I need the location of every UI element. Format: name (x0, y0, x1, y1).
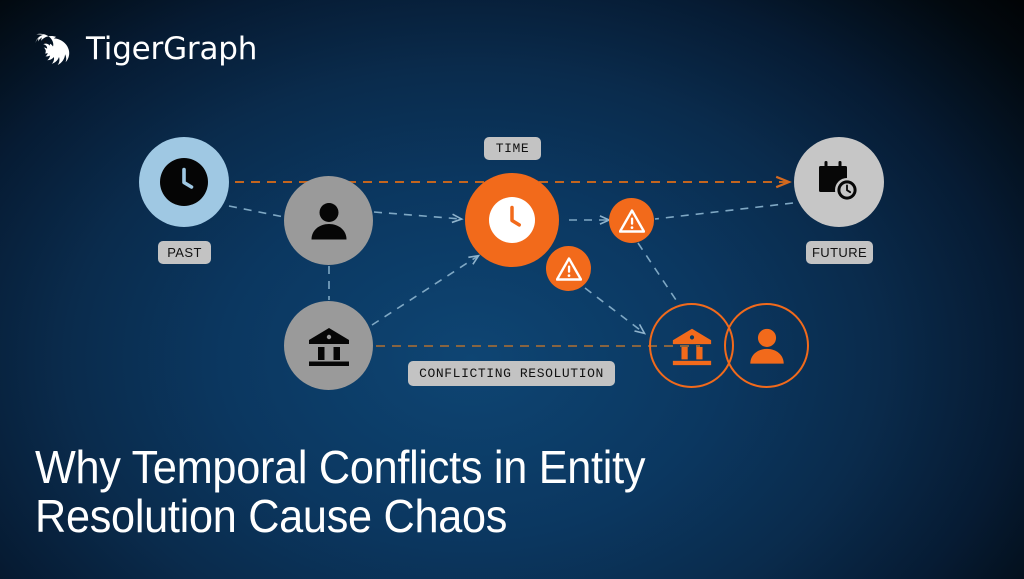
node-past[interactable] (139, 137, 229, 227)
page-title: Why Temporal Conflicts in Entity Resolut… (35, 443, 806, 541)
label-time: TIME (484, 137, 541, 160)
tiger-head-icon (30, 27, 74, 71)
bank-icon (670, 324, 714, 368)
page-title-line-2: Resolution Cause Chaos (35, 492, 806, 541)
edge-person-to-time (374, 212, 461, 219)
node-warning-conflict-b[interactable] (609, 198, 654, 243)
person-icon (746, 325, 788, 367)
brand-lockup: TigerGraph (30, 26, 257, 72)
clock-icon (160, 158, 208, 206)
label-future: FUTURE (806, 241, 873, 264)
warning-icon (619, 208, 645, 234)
person-icon (307, 199, 351, 243)
label-conflicting-resolution: CONFLICTING RESOLUTION (408, 361, 615, 386)
node-duplicate-bank[interactable] (649, 303, 734, 388)
edge-future-to-warning-b (655, 203, 793, 219)
label-past: PAST (158, 241, 211, 264)
node-time-center[interactable] (465, 173, 559, 267)
node-warning-conflict-a[interactable] (546, 246, 591, 291)
node-duplicate-person[interactable] (724, 303, 809, 388)
slide-canvas: TigerGraph (0, 0, 1024, 579)
node-bank[interactable] (284, 301, 373, 390)
page-title-line-1: Why Temporal Conflicts in Entity (35, 443, 806, 492)
brand-name: TigerGraph (86, 34, 257, 65)
edge-warning-a-to-dup-bank (585, 288, 644, 333)
calendar-clock-icon (815, 159, 863, 205)
node-person[interactable] (284, 176, 373, 265)
clock-icon (489, 197, 535, 243)
bank-icon (306, 323, 352, 369)
node-future[interactable] (794, 137, 884, 227)
edge-warning-b-to-dup-bank (638, 243, 678, 303)
edge-bank-to-time (372, 256, 478, 325)
warning-icon (556, 256, 582, 282)
edge-past-to-person (229, 206, 289, 218)
